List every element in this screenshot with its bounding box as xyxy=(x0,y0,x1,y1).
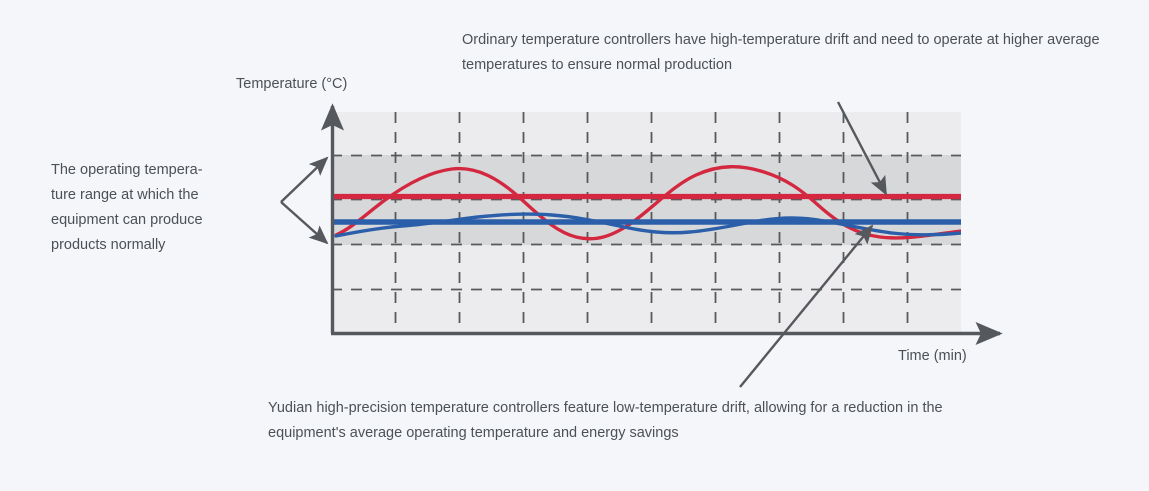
range-band-top-arrow xyxy=(281,158,327,202)
range-band-bottom-arrow xyxy=(281,202,327,243)
annotation-yudian-controller: Yudian high-precision temperature contro… xyxy=(268,396,968,446)
x-axis-label: Time (min) xyxy=(898,348,967,364)
diagram-stage: Temperature (°C) Time (min) Ordinary tem… xyxy=(0,0,1149,491)
annotation-operating-range: The operating tempera- ture range at whi… xyxy=(51,158,266,258)
annotation-ordinary-controller: Ordinary temperature controllers have hi… xyxy=(462,28,1122,78)
y-axis-label: Temperature (°C) xyxy=(236,76,347,92)
